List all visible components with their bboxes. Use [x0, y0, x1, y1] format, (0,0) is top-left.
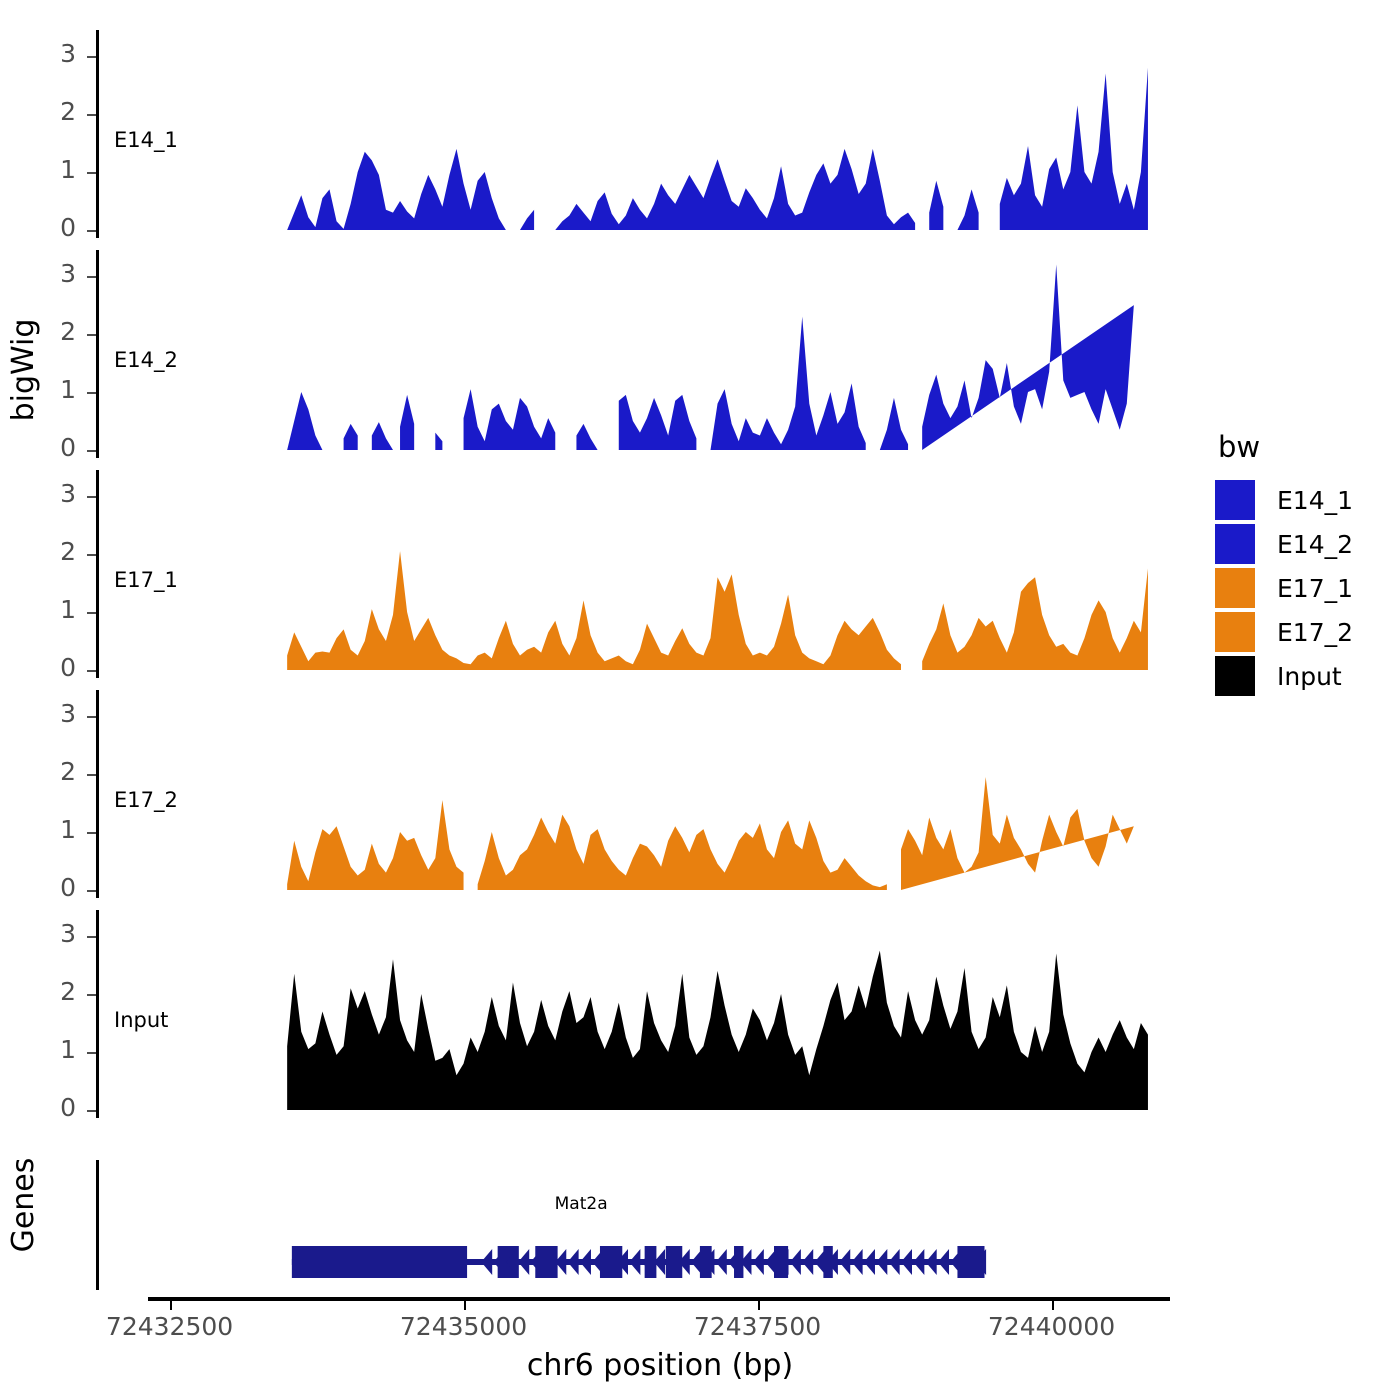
track-area-segment	[344, 424, 358, 450]
track-area-segment	[922, 264, 1134, 450]
y-tick	[87, 716, 96, 718]
legend-item-e14_1[interactable]: E14_1	[1215, 478, 1353, 522]
gene-strand-arrow-icon	[802, 1249, 813, 1275]
x-tick-label: 72437500	[658, 1312, 858, 1341]
x-tick-label: 72440000	[952, 1312, 1152, 1341]
gene-exon	[292, 1246, 467, 1278]
y-tick-label: 1	[20, 815, 76, 844]
genes-axis-title: Genes	[6, 1140, 41, 1270]
legend: bw E14_1E14_2E17_1E17_2Input	[1215, 430, 1353, 698]
x-tick	[758, 1301, 760, 1310]
track-area-segment	[287, 551, 901, 670]
y-tick-label: 2	[20, 317, 76, 346]
track-area-segment	[287, 800, 463, 890]
y-tick-label: 1	[20, 155, 76, 184]
legend-title: bw	[1218, 430, 1353, 464]
track-plot-area	[99, 250, 1179, 453]
track-area-segment	[619, 395, 697, 450]
y-tick-label: 3	[20, 919, 76, 948]
legend-rows: E14_1E14_2E17_1E17_2Input	[1215, 478, 1353, 698]
gene-strand-arrow-icon	[876, 1249, 887, 1275]
y-tick	[87, 890, 96, 892]
y-tick	[87, 1110, 96, 1112]
track-area-segment	[287, 149, 513, 230]
track-area-segment	[711, 317, 866, 450]
legend-color-swatch	[1215, 480, 1255, 520]
y-tick	[87, 392, 96, 394]
gene-strand-arrow-icon	[580, 1249, 591, 1275]
track-area-segment	[957, 189, 978, 230]
track-area-segment	[576, 424, 604, 450]
y-tick-label: 1	[20, 375, 76, 404]
y-tick-label: 3	[20, 39, 76, 68]
legend-item-e14_2[interactable]: E14_2	[1215, 522, 1353, 566]
track-area-segment	[478, 815, 887, 890]
track-area-segment	[287, 951, 1148, 1110]
x-tick	[464, 1301, 466, 1310]
gene-strand-arrow-icon	[765, 1249, 776, 1275]
x-tick-label: 72435000	[364, 1312, 564, 1341]
legend-color-swatch	[1215, 656, 1255, 696]
gene-strand-arrow-icon	[592, 1249, 603, 1275]
legend-item-e17_1[interactable]: E17_1	[1215, 566, 1353, 610]
gene-name-label: Mat2a	[521, 1194, 641, 1214]
y-tick-label: 2	[20, 977, 76, 1006]
x-tick-label: 72432500	[70, 1312, 270, 1341]
y-tick	[87, 994, 96, 996]
legend-item-e17_2[interactable]: E17_2	[1215, 610, 1353, 654]
track-area-segment	[555, 149, 915, 230]
track-area-segment	[287, 392, 322, 450]
figure-root: bigWig Genes 0123E14_10123E14_20123E17_1…	[0, 0, 1400, 1400]
gene-strand-arrow-icon	[913, 1249, 924, 1275]
y-tick-label: 1	[20, 1035, 76, 1064]
y-tick	[87, 230, 96, 232]
track-plot-area	[99, 690, 1179, 893]
gene-strand-arrow-icon	[728, 1249, 739, 1275]
gene-strand-arrow-icon	[938, 1249, 949, 1275]
y-tick-label: 0	[20, 653, 76, 682]
track-area-segment	[435, 433, 442, 450]
track-e17_2: 0123E17_2	[96, 690, 1182, 890]
gene-strand-arrow-icon	[716, 1249, 727, 1275]
y-tick	[87, 554, 96, 556]
track-plot-area	[99, 470, 1179, 673]
y-tick-label: 0	[20, 1093, 76, 1122]
gene-strand-arrow-icon	[889, 1249, 900, 1275]
gene-strand-arrow-icon	[839, 1249, 850, 1275]
gene-strand-arrow-icon	[901, 1249, 912, 1275]
track-e14_2: 0123E14_2	[96, 250, 1182, 450]
gene-strand-arrow-icon	[950, 1249, 961, 1275]
gene-model[interactable]	[99, 1232, 1185, 1292]
y-tick-label: 0	[20, 433, 76, 462]
y-tick-label: 3	[20, 699, 76, 728]
x-tick	[1052, 1301, 1054, 1310]
y-tick	[87, 450, 96, 452]
legend-item-label: E17_2	[1277, 618, 1353, 647]
y-tick	[87, 276, 96, 278]
legend-color-swatch	[1215, 612, 1255, 652]
y-tick	[87, 774, 96, 776]
gene-strand-arrow-icon	[568, 1249, 579, 1275]
x-axis-line	[148, 1297, 1170, 1301]
gene-strand-arrow-icon	[926, 1249, 937, 1275]
y-tick	[87, 496, 96, 498]
track-area-segment	[922, 569, 1148, 670]
y-tick-label: 0	[20, 213, 76, 242]
gene-strand-arrow-icon	[629, 1249, 640, 1275]
legend-color-swatch	[1215, 524, 1255, 564]
gene-strand-arrow-icon	[691, 1249, 702, 1275]
track-area-segment	[372, 422, 393, 450]
legend-item-label: E14_2	[1277, 530, 1353, 559]
y-tick	[87, 56, 96, 58]
gene-strand-arrow-icon	[753, 1249, 764, 1275]
track-plot-area	[99, 30, 1179, 233]
x-axis-title: chr6 position (bp)	[300, 1348, 1020, 1383]
legend-item-label: Input	[1277, 662, 1342, 691]
y-tick	[87, 612, 96, 614]
y-tick	[87, 1052, 96, 1054]
y-tick	[87, 172, 96, 174]
y-tick	[87, 936, 96, 938]
y-tick	[87, 670, 96, 672]
y-tick	[87, 114, 96, 116]
legend-color-swatch	[1215, 568, 1255, 608]
track-area-segment	[929, 181, 943, 230]
gene-strand-arrow-icon	[790, 1249, 801, 1275]
y-tick-label: 3	[20, 479, 76, 508]
y-tick-label: 2	[20, 537, 76, 566]
y-tick-label: 1	[20, 595, 76, 624]
gene-strand-arrow-icon	[852, 1249, 863, 1275]
y-tick-label: 2	[20, 757, 76, 786]
legend-item-label: E17_1	[1277, 574, 1353, 603]
y-tick	[87, 832, 96, 834]
track-area-segment	[901, 777, 1134, 890]
gene-strand-arrow-icon	[481, 1249, 492, 1275]
track-e17_1: 0123E17_1	[96, 470, 1182, 670]
y-tick-label: 0	[20, 873, 76, 902]
track-plot-area	[99, 910, 1179, 1113]
gene-strand-arrow-icon	[518, 1249, 529, 1275]
legend-item-label: E14_1	[1277, 486, 1353, 515]
track-area-segment	[520, 210, 534, 230]
gene-strand-arrow-icon	[815, 1249, 826, 1275]
track-area-segment	[464, 389, 556, 450]
track-area-segment	[1000, 68, 1148, 230]
y-tick	[87, 334, 96, 336]
x-tick	[170, 1301, 172, 1310]
track-area-segment	[400, 395, 414, 450]
y-tick-label: 3	[20, 259, 76, 288]
track-e14_1: 0123E14_1	[96, 30, 1182, 230]
gene-strand-arrow-icon	[864, 1249, 875, 1275]
track-area-segment	[880, 398, 908, 450]
y-tick-label: 2	[20, 97, 76, 126]
legend-item-input[interactable]: Input	[1215, 654, 1353, 698]
track-input: 0123Input	[96, 910, 1182, 1110]
